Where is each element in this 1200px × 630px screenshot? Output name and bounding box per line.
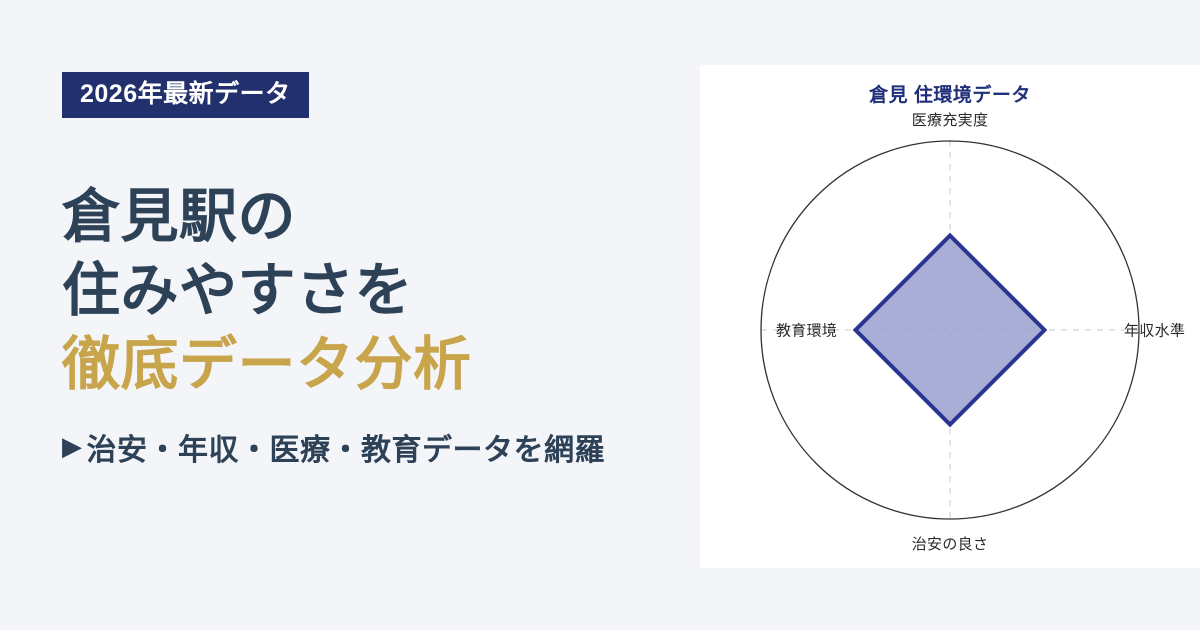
headline-line-2: 住みやすさを (62, 254, 700, 328)
subtitle-label: 治安・年収・医療・教育データを網羅 (87, 425, 606, 469)
play-triangle-icon: ▶ (62, 433, 83, 459)
axis-label-education: 教育環境 (776, 320, 837, 341)
hero-panel: 2026年最新データ 倉見駅の 住みやすさを 徹底データ分析 ▶ 治安・年収・医… (0, 0, 700, 630)
radar-data-polygon (856, 236, 1045, 425)
headline-line-3-accent: 徹底データ分析 (62, 328, 700, 402)
radar-svg (700, 65, 1200, 568)
date-badge: 2026年最新データ (62, 72, 309, 118)
axis-label-safety: 治安の良さ (912, 533, 989, 554)
axis-label-income: 年収水準 (1124, 320, 1185, 341)
subtitle: ▶ 治安・年収・医療・教育データを網羅 (62, 425, 700, 469)
radar-chart-card: 倉見 住環境データ 医療充実度 年収水準 治安の良さ 教育環境 (700, 65, 1200, 568)
page-title: 倉見駅の 住みやすさを 徹底データ分析 (62, 180, 700, 403)
radar-chart: 医療充実度 年収水準 治安の良さ 教育環境 (700, 65, 1200, 568)
headline-line-1: 倉見駅の (62, 180, 700, 254)
axis-label-medical: 医療充実度 (912, 109, 989, 130)
